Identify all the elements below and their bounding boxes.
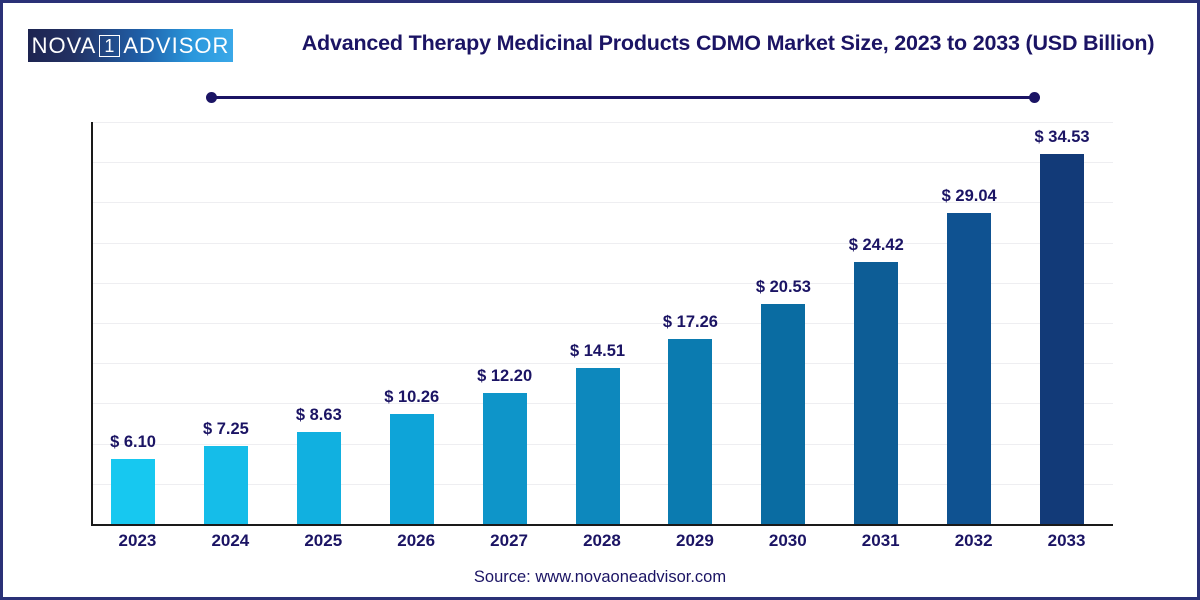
x-axis-tick-labels: 2023202420252026202720282029203020312032… bbox=[91, 531, 1113, 559]
x-axis-label: 2033 bbox=[1020, 531, 1113, 551]
bar-value-label: $ 20.53 bbox=[744, 278, 822, 297]
bar-value-label: $ 8.63 bbox=[280, 406, 358, 425]
x-axis-label: 2027 bbox=[463, 531, 556, 551]
bar-slot: $ 17.26 bbox=[648, 122, 741, 524]
bar[interactable]: $ 17.26 bbox=[668, 339, 712, 524]
bar[interactable]: $ 14.51 bbox=[576, 368, 620, 524]
bar[interactable]: $ 10.26 bbox=[390, 414, 434, 524]
x-axis-label: 2023 bbox=[91, 531, 184, 551]
divider-line bbox=[210, 96, 1036, 99]
bar[interactable]: $ 24.42 bbox=[854, 262, 898, 524]
bar[interactable]: $ 29.04 bbox=[947, 213, 991, 524]
bar-value-label: $ 7.25 bbox=[187, 420, 265, 439]
bar[interactable]: $ 8.63 bbox=[297, 432, 341, 525]
title-divider bbox=[206, 91, 1040, 103]
bar-value-label: $ 24.42 bbox=[837, 236, 915, 255]
bar-value-label: $ 17.26 bbox=[651, 313, 729, 332]
bar-slot: $ 34.53 bbox=[1020, 122, 1113, 524]
bar-chart-plot-area: $ 6.10$ 7.25$ 8.63$ 10.26$ 12.20$ 14.51$… bbox=[91, 122, 1113, 526]
bar-value-label: $ 34.53 bbox=[1023, 128, 1101, 147]
bar-slot: $ 12.20 bbox=[463, 122, 556, 524]
bar-slot: $ 8.63 bbox=[277, 122, 370, 524]
bar-value-label: $ 12.20 bbox=[466, 367, 544, 386]
x-axis-label: 2024 bbox=[184, 531, 277, 551]
logo-text: NOVA 1 ADVISOR bbox=[32, 33, 230, 59]
bar[interactable]: $ 6.10 bbox=[111, 459, 155, 524]
divider-dot-right-icon bbox=[1029, 92, 1040, 103]
x-axis-label: 2028 bbox=[556, 531, 649, 551]
bar[interactable]: $ 12.20 bbox=[483, 393, 527, 524]
page-title: Advanced Therapy Medicinal Products CDMO… bbox=[268, 31, 1188, 56]
x-axis-label: 2030 bbox=[741, 531, 834, 551]
logo-text-left: NOVA bbox=[32, 33, 97, 59]
x-axis-label: 2032 bbox=[927, 531, 1020, 551]
bar-slot: $ 14.51 bbox=[556, 122, 649, 524]
bar-value-label: $ 29.04 bbox=[930, 187, 1008, 206]
source-caption: Source: www.novaoneadvisor.com bbox=[3, 568, 1197, 587]
x-axis-label: 2026 bbox=[370, 531, 463, 551]
bar[interactable]: $ 34.53 bbox=[1040, 154, 1084, 524]
bar-value-label: $ 6.10 bbox=[94, 433, 172, 452]
header: NOVA 1 ADVISOR Advanced Therapy Medicina… bbox=[3, 3, 1197, 81]
infographic-page: NOVA 1 ADVISOR Advanced Therapy Medicina… bbox=[0, 0, 1200, 600]
bar-slot: $ 7.25 bbox=[184, 122, 277, 524]
bar-slot: $ 24.42 bbox=[834, 122, 927, 524]
bar-slot: $ 10.26 bbox=[370, 122, 463, 524]
bar-slot: $ 20.53 bbox=[741, 122, 834, 524]
bar-slot: $ 6.10 bbox=[91, 122, 184, 524]
logo-text-right: ADVISOR bbox=[123, 33, 229, 59]
logo-badge-one: 1 bbox=[99, 35, 120, 57]
x-axis-label: 2029 bbox=[648, 531, 741, 551]
x-axis-label: 2031 bbox=[834, 531, 927, 551]
bar-slot: $ 29.04 bbox=[927, 122, 1020, 524]
bar-value-label: $ 14.51 bbox=[559, 342, 637, 361]
x-axis-label: 2025 bbox=[277, 531, 370, 551]
bar-series: $ 6.10$ 7.25$ 8.63$ 10.26$ 12.20$ 14.51$… bbox=[91, 122, 1113, 525]
bar[interactable]: $ 20.53 bbox=[761, 304, 805, 524]
nova-one-advisor-logo: NOVA 1 ADVISOR bbox=[28, 29, 233, 62]
bar[interactable]: $ 7.25 bbox=[204, 446, 248, 524]
bar-value-label: $ 10.26 bbox=[373, 388, 451, 407]
